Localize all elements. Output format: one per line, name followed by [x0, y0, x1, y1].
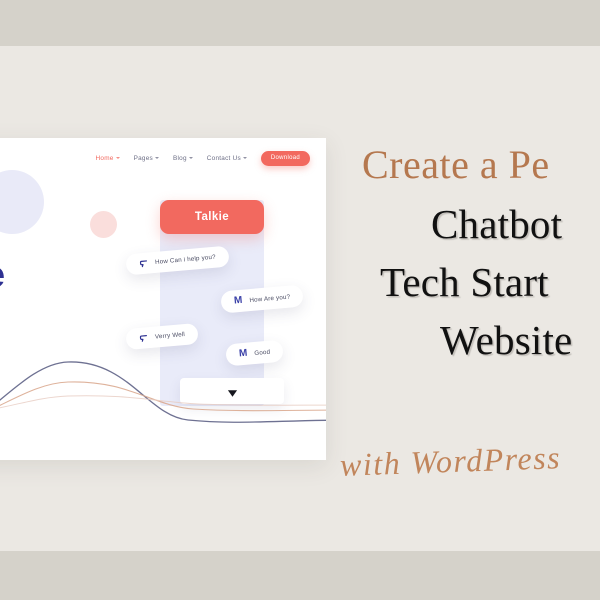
chat-bubble-text: How Can i help you? — [155, 254, 216, 266]
nav-item-contact-us-label: Contact Us — [207, 155, 241, 162]
nav-item-contact-us[interactable]: Contact Us — [207, 155, 247, 162]
nav-item-blog[interactable]: Blog — [173, 155, 193, 162]
mockup-navbar: Home Pages Blog Contact Us Download — [0, 138, 326, 178]
nav-item-pages[interactable]: Pages — [134, 155, 159, 162]
chat-panel-header: Talkie — [160, 200, 264, 234]
avatar: M — [234, 296, 243, 307]
decorative-lavender-circle — [0, 170, 44, 234]
promo-text-block: Create a Pe Chatbot Tech Start Website w… — [330, 0, 600, 600]
promo-line-2: Chatbot — [431, 200, 562, 248]
chevron-down-icon — [116, 157, 120, 159]
nav-item-home[interactable]: Home — [96, 155, 120, 162]
promo-line-3: Tech Start — [380, 258, 549, 306]
hero-heading: erce — [0, 254, 4, 296]
promo-line-1: Create a Pe — [362, 141, 550, 188]
nav-item-home-label: Home — [96, 155, 114, 162]
chevron-down-icon — [189, 157, 193, 159]
nav-item-pages-label: Pages — [134, 155, 153, 162]
website-mockup-card: Home Pages Blog Contact Us Download erce… — [0, 138, 326, 460]
chevron-down-icon — [155, 157, 159, 159]
promo-line-5-script: with WordPress — [339, 439, 561, 484]
chat-icon — [139, 259, 149, 269]
download-button[interactable]: Download — [261, 151, 310, 166]
nav-item-blog-label: Blog — [173, 155, 187, 162]
promo-line-4: Website — [440, 316, 572, 364]
decorative-pink-circle — [90, 211, 117, 238]
chevron-down-icon — [243, 157, 247, 159]
poster-canvas: Home Pages Blog Contact Us Download erce… — [0, 0, 600, 600]
chat-bubble-text: How Are you? — [249, 293, 290, 304]
decorative-waves — [0, 340, 326, 460]
chat-panel-title: Talkie — [195, 211, 229, 223]
